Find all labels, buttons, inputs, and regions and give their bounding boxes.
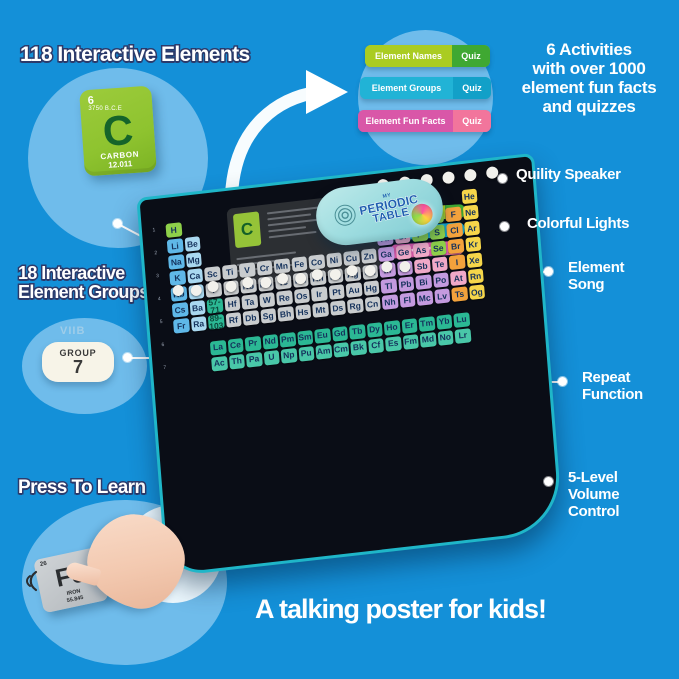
carbon-element-card: 6 3750 B.C.E C CARBON 12.011 (79, 86, 157, 177)
element-cell[interactable]: Tl (380, 278, 396, 294)
element-cell[interactable]: Cr (256, 260, 272, 276)
callout-dot-elements (113, 219, 122, 228)
callout-element-song: Element Song (568, 260, 624, 294)
element-cell[interactable]: Fl (399, 292, 415, 308)
element-cell[interactable]: Es (385, 336, 401, 352)
element-cell[interactable]: Tm (418, 316, 434, 332)
element-cell[interactable]: Ne (462, 205, 478, 221)
control-button[interactable] (442, 171, 455, 184)
element-cell[interactable]: Cm (333, 342, 349, 358)
element-cell[interactable]: Db (243, 310, 259, 326)
callout-song-line2: Song (568, 276, 604, 293)
element-cell[interactable]: Pm (279, 332, 295, 348)
element-cell[interactable]: Be (184, 236, 200, 252)
element-cell[interactable]: Th (228, 354, 244, 370)
element-cell[interactable]: Ho (384, 320, 400, 336)
info-panel-symbol: C (233, 211, 262, 248)
group-num-2: 3 (149, 272, 165, 280)
element-cell[interactable]: Sg (260, 308, 276, 324)
headline-groups-line2: Element Groups (18, 282, 149, 302)
group-badge: GROUP 7 (42, 342, 114, 382)
element-cell[interactable]: Os (293, 288, 309, 304)
activities-line3: element fun facts (522, 78, 657, 97)
element-cell[interactable]: Bh (277, 306, 293, 322)
group-num-4: 5 (153, 318, 169, 326)
element-cell[interactable]: Hs (295, 304, 311, 320)
callout-dot-speaker (498, 174, 507, 183)
element-cell[interactable]: Fe (291, 256, 307, 272)
element-cell[interactable]: Ar (464, 220, 480, 236)
element-cell[interactable]: Hg (363, 280, 379, 296)
sound-waves-icon (16, 566, 42, 596)
element-cell[interactable]: Mn (274, 258, 290, 274)
activity-label-0: Element Names (365, 45, 452, 67)
element-cell[interactable]: H (165, 222, 181, 238)
element-cell[interactable]: Er (401, 318, 417, 334)
element-cell[interactable]: Hf (224, 296, 240, 312)
element-cell[interactable]: Pa (246, 352, 262, 368)
element-cell[interactable]: Mt (312, 302, 328, 318)
element-cell[interactable]: Pb (398, 276, 414, 292)
element-cell[interactable]: Og (469, 284, 485, 300)
element-cell[interactable]: Lv (434, 288, 450, 304)
activities-line1: 6 Activities (546, 40, 632, 59)
element-cell[interactable]: Po (433, 272, 449, 288)
element-cell[interactable]: Rf (225, 312, 241, 328)
element-cell[interactable]: Dy (366, 322, 382, 338)
activity-pill-element-groups[interactable]: Element Groups Quiz (360, 77, 491, 99)
element-cell[interactable]: Xe (466, 252, 482, 268)
activity-label-1: Element Groups (360, 77, 453, 99)
control-button[interactable] (486, 166, 499, 179)
element-cell[interactable]: Cf (368, 338, 384, 354)
element-cell[interactable]: Nh (382, 294, 398, 310)
element-cell[interactable]: Cu (343, 250, 359, 266)
activity-label-2: Element Fun Facts (358, 110, 453, 132)
group-num-6: 7 (157, 364, 173, 372)
callout-dot-song (544, 267, 553, 276)
callout-repeat-function: Repeat Function (582, 370, 643, 404)
element-cell[interactable]: Cs (172, 302, 188, 318)
element-cell[interactable]: I (449, 254, 465, 270)
activity-quiz-1[interactable]: Quiz (453, 77, 491, 99)
element-cell[interactable]: Fm (402, 334, 418, 350)
element-cell[interactable]: Am (315, 344, 331, 360)
element-cell[interactable]: Mc (416, 290, 432, 306)
element-cell[interactable]: Bi (415, 274, 431, 290)
callout-repeat-line2: Function (582, 386, 643, 403)
element-cell[interactable]: Kr (465, 236, 481, 252)
element-cell[interactable]: Yb (436, 314, 452, 330)
element-cell[interactable]: K (169, 270, 185, 286)
callout-dot-volume (544, 477, 553, 486)
element-cell[interactable]: Eu (314, 328, 330, 344)
element-cell[interactable]: Cl (446, 222, 462, 238)
speaker-brand-logo: MY PERIODIC TABLE (357, 188, 421, 228)
callout-volume-line2: Volume (568, 486, 619, 503)
element-cell[interactable]: Ce (227, 338, 243, 354)
element-cell[interactable]: Zn (361, 248, 377, 264)
headline-activities: 6 Activities with over 1000 element fun … (500, 40, 678, 116)
element-cell[interactable]: F (445, 206, 461, 222)
activity-quiz-2[interactable]: Quiz (453, 110, 491, 132)
element-cell[interactable]: Ir (311, 286, 327, 302)
element-cell[interactable]: Ac (211, 356, 227, 372)
element-cell[interactable]: Md (420, 332, 436, 348)
element-cell[interactable]: V (239, 262, 255, 278)
callout-repeat-line1: Repeat (582, 369, 630, 386)
callout-quility-speaker: Quility Speaker (516, 167, 621, 184)
callout-colorful-lights: Colorful Lights (527, 216, 629, 233)
group-num-3: 4 (151, 295, 167, 303)
headline-press-to-learn: Press To Learn (18, 478, 145, 499)
element-cell[interactable]: U (263, 350, 279, 366)
element-cell[interactable]: Pu (298, 346, 314, 362)
element-cell[interactable]: Lu (453, 312, 469, 328)
activities-line4: and quizzes (542, 97, 635, 116)
element-cell[interactable]: Ge (395, 244, 411, 260)
control-button[interactable] (464, 168, 477, 181)
element-cell[interactable]: Te (431, 256, 447, 272)
callout-dot-lights (500, 222, 509, 231)
element-cell[interactable]: Sm (297, 330, 313, 346)
element-cell[interactable]: La (210, 340, 226, 356)
element-cell[interactable]: Rn (467, 268, 483, 284)
headline-elements-count: 118 Interactive Elements (20, 44, 250, 67)
callout-volume-line3: Control (568, 503, 619, 520)
callout-dot-repeat (558, 377, 567, 386)
element-cell[interactable]: Rg (347, 298, 363, 314)
element-cell[interactable]: Ts (451, 286, 467, 302)
element-cell[interactable]: Ga (378, 246, 394, 262)
element-cell[interactable]: Ti (221, 264, 237, 280)
callout-song-line1: Element (568, 259, 624, 276)
group-roman-numeral: VIIB (60, 325, 85, 337)
element-cell[interactable]: Gd (332, 326, 348, 342)
element-cell[interactable]: Lr (454, 328, 470, 344)
element-cell[interactable]: Cn (364, 296, 380, 312)
element-cell[interactable]: Na (168, 254, 184, 270)
element-cell[interactable]: Li (167, 238, 183, 254)
element-cell[interactable]: Ba (189, 300, 205, 316)
element-cell[interactable]: At (450, 270, 466, 286)
element-cell[interactable]: As (413, 242, 429, 258)
callout-volume-line1: 5-Level (568, 469, 618, 486)
element-cell[interactable]: Se (430, 240, 446, 256)
element-cell[interactable]: Au (346, 282, 362, 298)
element-cell[interactable]: Fr (173, 318, 189, 334)
element-cell[interactable]: Ca (187, 268, 203, 284)
speaker-icon (331, 201, 360, 230)
activity-quiz-0[interactable]: Quiz (452, 45, 490, 67)
element-cell[interactable]: Pr (245, 336, 261, 352)
element-cell[interactable]: Ni (326, 252, 342, 268)
element-cell[interactable]: Np (281, 348, 297, 364)
element-cell[interactable]: He (461, 189, 477, 205)
element-cell[interactable]: Br (447, 238, 463, 254)
group-num-1: 2 (148, 249, 164, 257)
element-cell[interactable]: Bk (350, 340, 366, 356)
tagline: A talking poster for kids! (255, 594, 546, 624)
element-cell[interactable]: W (259, 292, 275, 308)
headline-groups-line1: 18 Interactive (18, 263, 125, 283)
element-cell[interactable]: Tb (349, 324, 365, 340)
element-cell[interactable]: Sc (204, 266, 220, 282)
element-cell[interactable]: No (437, 330, 453, 346)
element-cell[interactable]: Re (276, 290, 292, 306)
element-cell[interactable]: Mg (185, 252, 201, 268)
callout-dot-groups (123, 353, 132, 362)
element-cell[interactable]: Ra (190, 316, 206, 332)
carbon-symbol: C (81, 108, 156, 155)
element-cell[interactable]: Co (308, 254, 324, 270)
rgb-light-icon (410, 203, 433, 226)
element-cell[interactable]: Sb (414, 258, 430, 274)
element-cell[interactable]: 89-103 (208, 314, 224, 330)
group-num-5: 6 (155, 341, 171, 349)
activity-pill-element-names[interactable]: Element Names Quiz (365, 45, 490, 67)
callout-volume-control: 5-Level Volume Control (568, 470, 619, 520)
element-cell[interactable]: Pt (328, 284, 344, 300)
activities-line2: with over 1000 (533, 59, 646, 78)
element-cell[interactable]: Ds (329, 300, 345, 316)
activity-pill-element-fun-facts[interactable]: Element Fun Facts Quiz (358, 110, 491, 132)
group-num-0: 1 (146, 226, 162, 234)
group-badge-number: 7 (42, 358, 114, 376)
marketing-image-root: 118 Interactive Elements 18 Interactive … (0, 0, 679, 679)
element-cell[interactable]: Ta (241, 294, 257, 310)
element-cell[interactable]: Nd (262, 334, 278, 350)
